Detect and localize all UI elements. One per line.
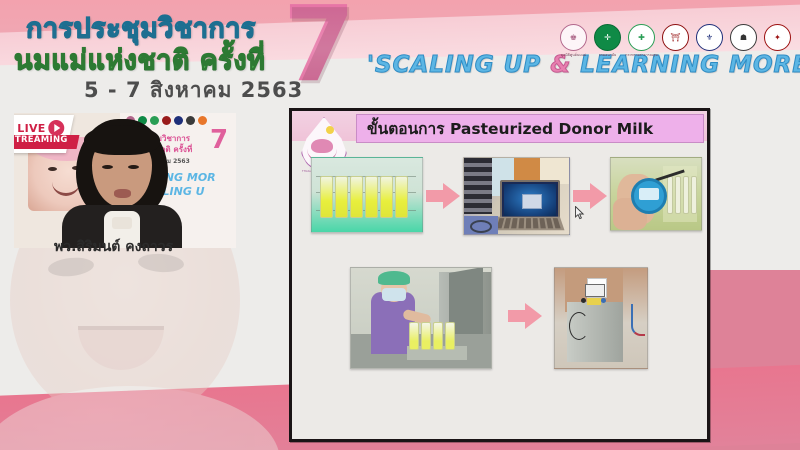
blue-crest-emblem-icon: ⚜ bbox=[696, 24, 723, 51]
emblem-glyph: ⛩ bbox=[670, 33, 680, 42]
emblem-glyph: ⚜ bbox=[706, 33, 713, 42]
slide-title-box: ขั้นตอนการ Pasteurized Donor Milk bbox=[356, 114, 704, 143]
photo-pasteurizer-machine bbox=[554, 267, 648, 369]
presenter-eye-left bbox=[102, 165, 113, 169]
conference-date: 5 - 7 สิงหาคม 2563 bbox=[84, 74, 303, 107]
live-label: LIVE bbox=[17, 122, 45, 135]
drop-highlight bbox=[326, 126, 334, 134]
slide-stage: การประชุมวิชาการ นมแม่แห่งชาติ ครั้งที่ … bbox=[0, 0, 800, 450]
crimson-crest-emblem-icon: ✦ bbox=[764, 24, 791, 51]
arrow-right-1-icon bbox=[426, 183, 460, 209]
live-video-frame[interactable]: การประชุมวิชาการ นมแม่แห่งชาติ ครั้งที่ … bbox=[14, 113, 236, 248]
conference-edition-number: 7 bbox=[283, 0, 355, 96]
poster-emblem-7-icon bbox=[198, 116, 207, 125]
presenter-eye-right bbox=[128, 165, 139, 169]
emblem-glyph: ☗ bbox=[740, 33, 747, 42]
page-title: ขั้นตอนการ Pasteurized Donor Milk bbox=[357, 116, 653, 141]
slide-panel: THAILAND HUMAN MILK BANK ขั้นตอนการ Past… bbox=[289, 108, 710, 442]
emblem-glyph: ✚ bbox=[638, 33, 645, 42]
green-health-emblem-icon: ✛ กรมอนามัย bbox=[594, 24, 621, 51]
emblem-caption: กระทรวงสาธารณสุข bbox=[625, 52, 657, 58]
royal-patronage-emblem-icon: ♚ มูลนิธิศูนย์นมแม่ bbox=[560, 24, 587, 51]
poster-edition-number: 7 bbox=[210, 127, 228, 153]
presenter-collar-bow bbox=[112, 217, 132, 229]
emblem-glyph: ♚ bbox=[570, 33, 577, 42]
photo-thermometer-probe bbox=[610, 157, 702, 231]
watermark-body bbox=[0, 386, 280, 450]
tagline-prefix: 'SCALING UP bbox=[367, 52, 550, 78]
photo-milk-bottles-rack bbox=[311, 157, 423, 233]
mouse-pointer-icon bbox=[575, 206, 585, 220]
emblem-caption: มูลนิธิศูนย์นมแม่ bbox=[561, 52, 587, 58]
emblem-glyph: ✛ bbox=[604, 33, 611, 42]
photo-nurse-loading-bottles bbox=[350, 267, 492, 369]
streaming-band: STREAMING bbox=[14, 135, 79, 149]
emblem-glyph: ✦ bbox=[774, 33, 781, 42]
speaker-name: พว.สิริมนต์ คงถาวร bbox=[54, 236, 173, 258]
white-health-emblem-icon: ✚ กระทรวงสาธารณสุข bbox=[628, 24, 655, 51]
red-crest-emblem-icon: ⛩ bbox=[662, 24, 689, 51]
poster-emblem-6-icon bbox=[186, 116, 195, 125]
play-icon bbox=[49, 120, 65, 136]
sponsor-logo-row: ♚ มูลนิธิศูนย์นมแม่ ✛ กรมอนามัย ✚ กระทรว… bbox=[560, 24, 800, 51]
child-eye-left bbox=[48, 167, 57, 171]
presenter-fringe bbox=[84, 125, 160, 155]
photo-laptop-workstation bbox=[463, 157, 570, 235]
live-row: LIVE bbox=[17, 120, 64, 136]
dark-crest-emblem-icon: ☗ bbox=[730, 24, 757, 51]
process-diagram bbox=[292, 145, 707, 435]
streaming-label: STREAMING bbox=[14, 135, 68, 145]
presenter-mouth bbox=[114, 189, 131, 198]
emblem-caption: กรมอนามัย bbox=[599, 52, 617, 58]
arrow-right-3-icon bbox=[508, 303, 542, 329]
presenter-figure bbox=[62, 119, 182, 248]
